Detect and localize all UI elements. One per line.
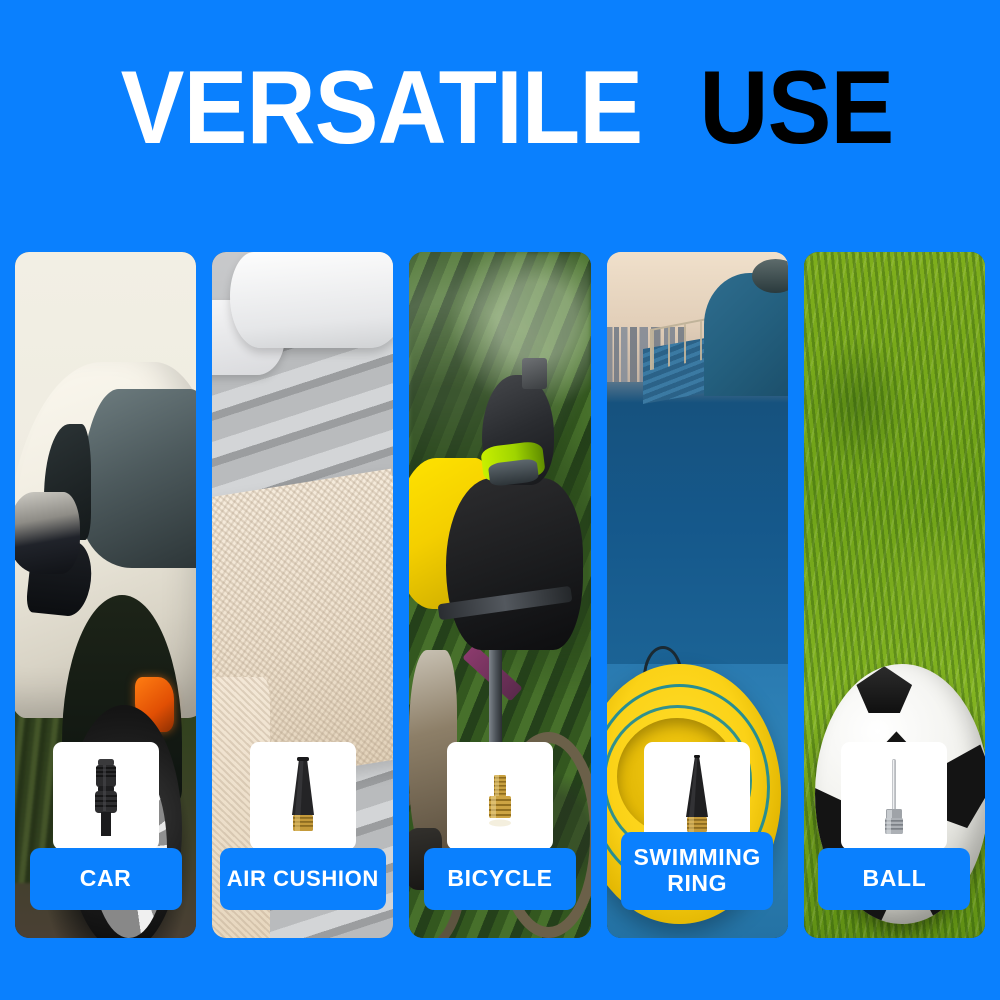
page-title: VERSATILEUSE: [0, 56, 1000, 160]
car-valve-nozzle-icon: [79, 753, 133, 839]
swimming-ring-cone-nozzle-icon: [670, 753, 724, 839]
car-label: CAR: [30, 848, 182, 910]
car-label-text: CAR: [80, 866, 132, 892]
swimming-ring-label-text: SWIMMINGRING: [633, 845, 760, 897]
use-case-swimming-ring[interactable]: SWIMMINGRING: [607, 252, 788, 938]
pillow-primary: [230, 252, 393, 348]
use-case-ball[interactable]: SPIDO BALL: [804, 252, 985, 938]
helmet-camera: [522, 358, 547, 388]
air-cushion-label: AIR CUSHION: [220, 848, 386, 910]
use-case-car[interactable]: CAR: [15, 252, 196, 938]
bicycle-label-text: BICYCLE: [447, 866, 552, 892]
air-cushion-cone-nozzle-icon: [276, 753, 330, 839]
air-cushion-nozzle-card: [250, 742, 356, 850]
ball-label-text: BALL: [863, 866, 927, 892]
ball-nozzle-card: [841, 742, 947, 850]
ball-needle-icon: [867, 753, 921, 839]
use-case-strip: CAR: [15, 252, 985, 938]
versatile-use-banner: VERSATILEUSE: [0, 0, 1000, 1000]
swimming-ring-label: SWIMMINGRING: [621, 832, 773, 910]
car-window: [80, 389, 196, 567]
bicycle-nozzle-card: [447, 742, 553, 850]
use-case-bicycle[interactable]: BICYCLE: [409, 252, 590, 938]
car-side-mirror: [15, 492, 80, 574]
bicycle-label: BICYCLE: [424, 848, 576, 910]
swimming-ring-label-line1: SWIMMING: [633, 844, 760, 870]
title-primary-word: VERSATILE: [121, 56, 643, 160]
use-case-air-cushion[interactable]: AIR CUSHION: [212, 252, 393, 938]
swimming-ring-label-line2: RING: [667, 870, 727, 896]
ball-label: BALL: [818, 848, 970, 910]
bicycle-presta-adapter-icon: [473, 753, 527, 839]
title-secondary-word: USE: [699, 56, 893, 160]
air-cushion-label-text: AIR CUSHION: [227, 867, 379, 892]
rider-torso: [446, 478, 584, 650]
car-nozzle-card: [53, 742, 159, 850]
